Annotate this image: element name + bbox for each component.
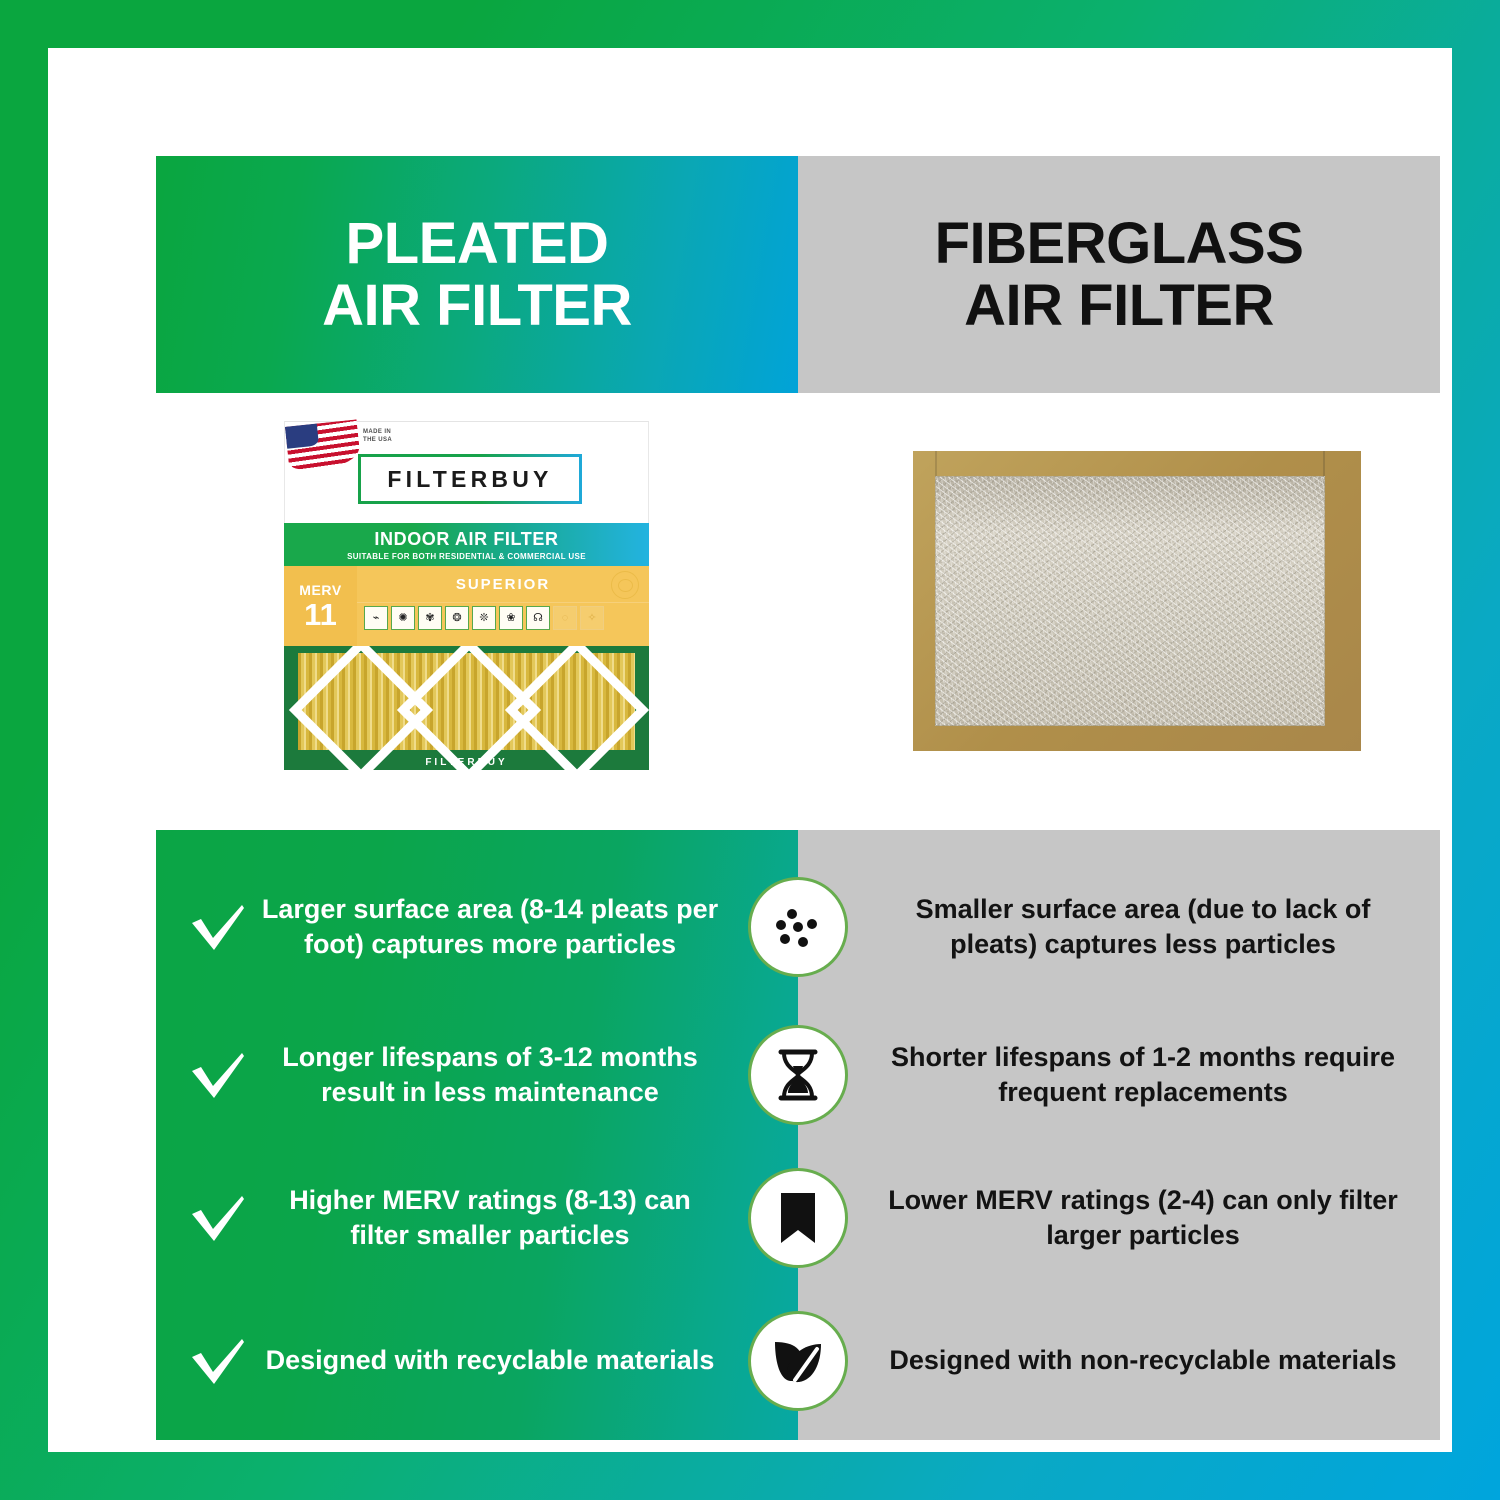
row-right-cell: Lower MERV ratings (2-4) can only filter… [798,1183,1440,1253]
inner-white-mat: PLEATED AIR FILTER FIBERGLASS AIR FILTER [48,48,1452,1452]
row-left-text: Designed with recyclable materials [260,1343,720,1378]
header-fiberglass-title: FIBERGLASS AIR FILTER [798,156,1440,393]
dust-mite-icon: ✺ [391,606,415,630]
frame-seam-right [1323,451,1325,476]
header-band: PLEATED AIR FILTER FIBERGLASS AIR FILTER [156,156,1440,393]
bacteria-icon: ❊ [472,606,496,630]
header-pleated-line1: PLEATED [346,213,609,274]
made-in-line2: THE USA [363,436,427,444]
check-icon [186,1043,250,1107]
merv-divider [357,602,649,603]
filterbuy-logo-text: FILTERBUY [387,466,552,493]
row-right-text: Smaller surface area (due to lack of ple… [876,892,1410,962]
header-pleated-line2: AIR FILTER [322,275,632,336]
dust-icon: ⌁ [364,606,388,630]
merv-label: MERV [299,582,342,598]
row-left-cell: Longer lifespans of 3-12 months result i… [156,1040,798,1110]
row-left-text: Larger surface area (8-14 pleats per foo… [260,892,720,962]
check-icon [186,895,250,959]
merv-block: MERV 11 [284,566,357,646]
pet-dander-icon: ❀ [499,606,523,630]
tier-label: SUPERIOR [456,576,550,593]
header-fiberglass-line2: AIR FILTER [964,275,1274,336]
pleated-filter-media: FILTERBUY [284,646,649,770]
usa-flag-icon [285,419,361,470]
package-band-subtitle: SUITABLE FOR BOTH RESIDENTIAL & COMMERCI… [347,552,586,561]
hourglass-icon [748,1025,848,1125]
row-right-cell: Smaller surface area (due to lack of ple… [798,892,1440,962]
fiberglass-filter-product [913,451,1361,751]
outer-gradient-border: PLEATED AIR FILTER FIBERGLASS AIR FILTER [0,0,1500,1500]
frame-seam-left [935,451,937,476]
check-icon [186,1186,250,1250]
package-header: MADE IN THE USA FILTERBUY [284,421,649,523]
smoke-icon: ☊ [526,606,550,630]
header-fiberglass: FIBERGLASS AIR FILTER [798,156,1440,393]
pleated-filter-product: MADE IN THE USA FILTERBUY INDOOR AIR FIL… [284,421,649,796]
row-right-cell: Designed with non-recyclable materials [798,1343,1440,1378]
row-left-cell: Designed with recyclable materials [156,1329,798,1393]
fiberglass-media [935,476,1325,726]
filter-footer-brand: FILTERBUY [284,757,649,768]
row-left-text: Higher MERV ratings (8-13) can filter sm… [260,1183,720,1253]
row-right-cell: Shorter lifespans of 1-2 months require … [798,1040,1440,1110]
made-in-line1: MADE IN [363,428,427,436]
package-band-title: INDOOR AIR FILTER [374,529,558,550]
package-merv-section: MERV 11 SUPERIOR ⌁ ✺ ✾ ❂ [284,566,649,646]
filterbuy-logo: FILTERBUY [358,454,582,504]
product-image-row: MADE IN THE USA FILTERBUY INDOOR AIR FIL… [156,393,1440,830]
header-pleated: PLEATED AIR FILTER [156,156,798,393]
tier-row: SUPERIOR [357,566,649,602]
package-band: INDOOR AIR FILTER SUITABLE FOR BOTH RESI… [284,523,649,566]
header-pleated-title: PLEATED AIR FILTER [156,156,798,393]
row-right-text: Shorter lifespans of 1-2 months require … [876,1040,1410,1110]
merv-value: 11 [304,599,337,630]
ul-listed-badge-icon [611,571,639,599]
row-left-text: Longer lifespans of 3-12 months result i… [260,1040,720,1110]
leaf-icon [748,1311,848,1411]
row-right-text: Designed with non-recyclable materials [889,1343,1396,1378]
row-left-cell: Larger surface area (8-14 pleats per foo… [156,892,798,962]
pollen-icon: ✾ [418,606,442,630]
check-icon [186,1329,250,1393]
row-right-text: Lower MERV ratings (2-4) can only filter… [876,1183,1410,1253]
diamond-support-grid [298,653,635,750]
comparison-panel: Larger surface area (8-14 pleats per foo… [156,830,1440,1440]
bookmark-icon [748,1168,848,1268]
row-left-cell: Higher MERV ratings (8-13) can filter sm… [156,1183,798,1253]
virus-icon: ✧ [580,606,604,630]
header-fiberglass-line1: FIBERGLASS [935,213,1304,274]
mold-spore-icon: ❂ [445,606,469,630]
infographic-stage: PLEATED AIR FILTER FIBERGLASS AIR FILTER [156,156,1440,1440]
odor-icon: ◌ [553,606,577,630]
feature-icon-row: ⌁ ✺ ✾ ❂ ❊ ❀ ☊ ◌ ✧ [364,606,642,642]
made-in-usa-label: MADE IN THE USA [363,428,427,445]
particles-icon [748,877,848,977]
